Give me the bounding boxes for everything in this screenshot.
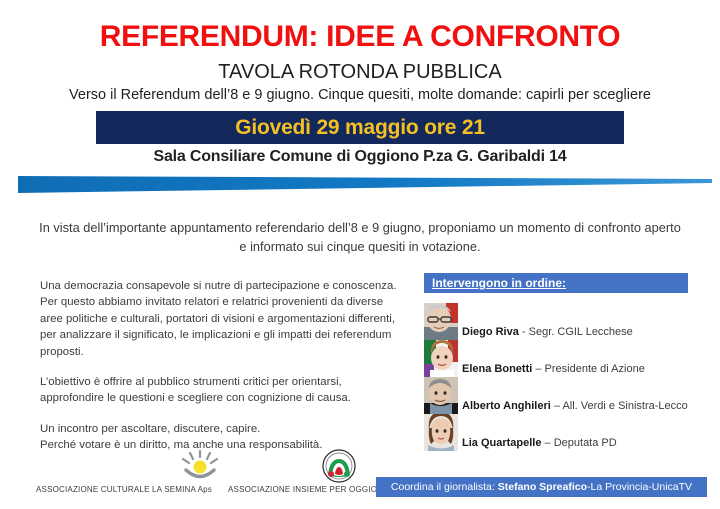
blue-wedge-divider: [18, 175, 712, 194]
coordinator-name: Stefano Spreafico: [498, 481, 587, 493]
poster-subtitle: TAVOLA ROTONDA PUBBLICA: [0, 60, 720, 84]
body-copy: Una democrazia consapevole si nutre di p…: [40, 278, 400, 454]
list-item: Elena Bonetti – Presidente di Azione: [424, 340, 714, 377]
org-caption-insieme: ASSOCIAZIONE INSIEME PER OGGIONO: [228, 485, 390, 494]
body-paragraph-1: Una democrazia consapevole si nutre di p…: [40, 278, 400, 360]
speaker-name: Lia Quartapelle: [462, 437, 541, 449]
poster-tagline: Verso il Referendum dell’8 e 9 giugno. C…: [0, 85, 720, 105]
sun-smile-logo: [177, 450, 223, 482]
coordinator-prefix: Coordina il giornalista:: [391, 481, 495, 493]
date-banner: Giovedì 29 maggio ore 21: [96, 111, 624, 144]
intro-paragraph: In vista dell’importante appuntamento re…: [38, 218, 682, 256]
speaker-name: Elena Bonetti: [462, 363, 532, 375]
speaker-name: Alberto Anghileri: [462, 400, 551, 412]
date-banner-text: Giovedì 29 maggio ore 21: [235, 116, 485, 140]
coordinator-affiliation: -La Provincia-UnicaTV: [587, 481, 692, 493]
speaker-role: – All. Verdi e Sinistra-Lecco: [551, 400, 688, 412]
org-caption-semina: ASSOCIAZIONE CULTURALE LA SEMINA Aps: [36, 485, 212, 494]
list-item: Lia Quartapelle – Deputata PD: [424, 414, 714, 451]
body-paragraph-2: L’obiettivo è offrire al pubblico strume…: [40, 374, 400, 407]
speaker-role: – Presidente di Azione: [532, 363, 645, 375]
list-item: Alberto Anghileri – All. Verdi e Sinistr…: [424, 377, 714, 414]
speakers-list: Diego Riva - Segr. CGIL Lecchese Elena B…: [424, 303, 714, 451]
coordinator-bar: Coordina il giornalista: Stefano Spreafi…: [376, 477, 707, 497]
venue-line: Sala Consiliare Comune di Oggiono P.za G…: [0, 148, 720, 166]
speaker-label: Lia Quartapelle – Deputata PD: [462, 437, 617, 450]
speaker-photo-alberto-anghileri: [424, 377, 458, 414]
speaker-photo-elena-bonetti: [424, 340, 458, 377]
speaker-role: – Deputata PD: [541, 437, 616, 449]
coordinator-text: Coordina il giornalista: Stefano Spreafi…: [391, 481, 692, 493]
speakers-panel-header-label: Intervengono in ordine:: [432, 276, 566, 290]
list-item: Diego Riva - Segr. CGIL Lecchese: [424, 303, 714, 340]
page-title: REFERENDUM: IDEE A CONFRONTO: [0, 20, 720, 54]
speakers-panel-header: Intervengono in ordine:: [424, 273, 688, 293]
speaker-name: Diego Riva: [462, 326, 519, 338]
speaker-label: Alberto Anghileri – All. Verdi e Sinistr…: [462, 400, 688, 413]
speaker-label: Diego Riva - Segr. CGIL Lecchese: [462, 326, 633, 339]
speaker-photo-lia-quartapelle: [424, 414, 458, 451]
speaker-photo-diego-riva: [424, 303, 458, 340]
speaker-role: - Segr. CGIL Lecchese: [519, 326, 633, 338]
speaker-label: Elena Bonetti – Presidente di Azione: [462, 363, 645, 376]
italian-flag-circle-logo: [320, 449, 358, 483]
